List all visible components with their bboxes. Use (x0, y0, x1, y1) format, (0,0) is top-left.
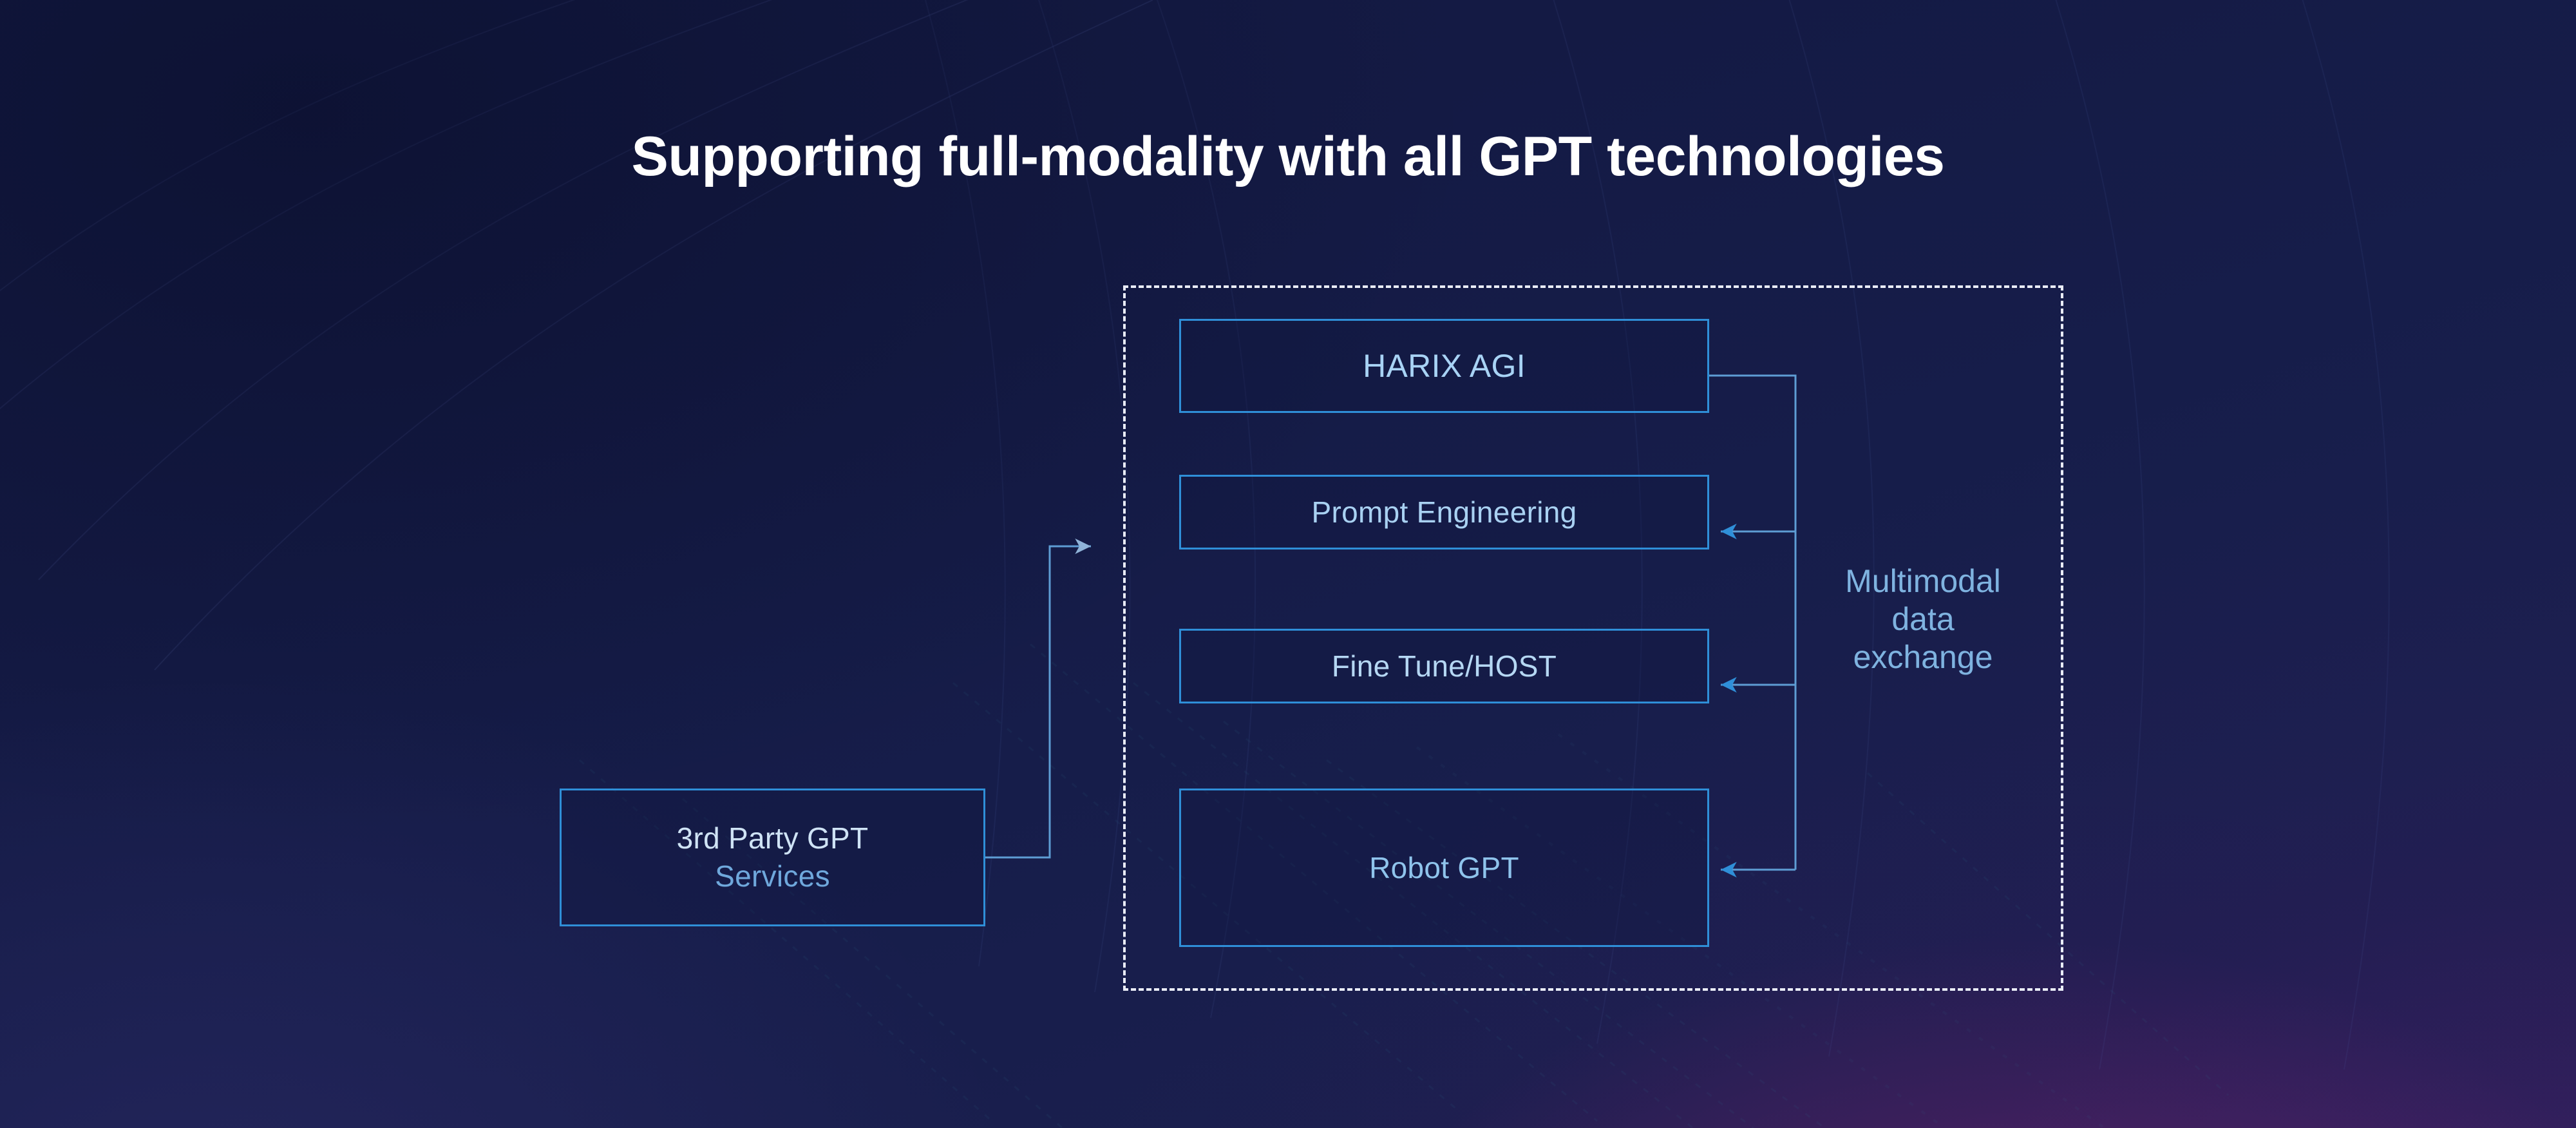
node-third-party-text: 3rd Party GPT Services (677, 819, 869, 895)
multimodal-line-1: Multimodal (1845, 563, 2001, 599)
edge-harix-bus (1709, 376, 1795, 870)
multimodal-line-2: data (1891, 601, 1954, 637)
edge-thirdparty-to-group (985, 546, 1091, 857)
node-robot-gpt[interactable]: Robot GPT (1179, 789, 1709, 947)
multimodal-data-exchange-label: Multimodal data exchange (1807, 562, 2039, 676)
node-robot-gpt-label: Robot GPT (1369, 849, 1519, 887)
slide-canvas: Supporting full-modality with all GPT te… (0, 0, 2576, 1128)
node-prompt-engineering-label: Prompt Engineering (1312, 493, 1577, 531)
node-fine-tune-host-label: Fine Tune/HOST (1332, 647, 1557, 685)
page-title: Supporting full-modality with all GPT te… (0, 126, 2576, 187)
node-fine-tune-host[interactable]: Fine Tune/HOST (1179, 629, 1709, 703)
node-harix-agi[interactable]: HARIX AGI (1179, 319, 1709, 413)
node-third-party-line2: Services (677, 857, 869, 895)
node-third-party-gpt-services[interactable]: 3rd Party GPT Services (560, 789, 985, 926)
node-third-party-line1: 3rd Party GPT (677, 819, 869, 857)
multimodal-line-3: exchange (1853, 639, 1993, 675)
node-harix-agi-label: HARIX AGI (1363, 345, 1526, 387)
node-prompt-engineering[interactable]: Prompt Engineering (1179, 475, 1709, 550)
